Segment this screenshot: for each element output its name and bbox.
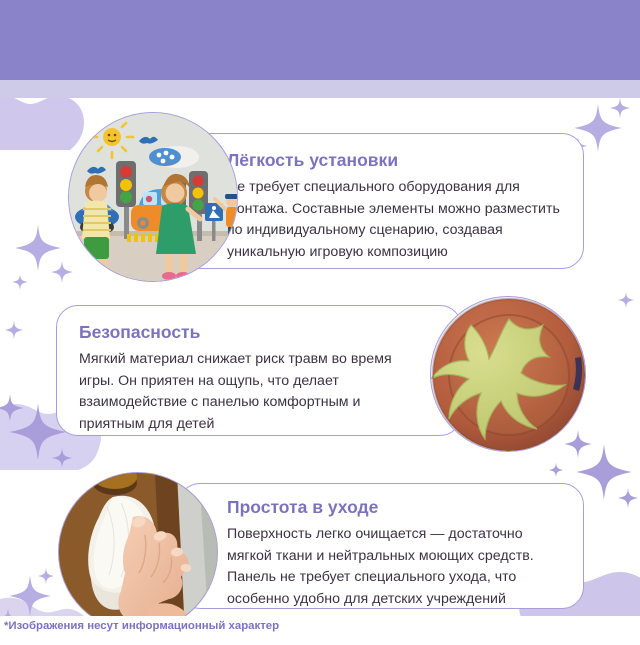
photo-hand-wiping-surface bbox=[58, 472, 218, 632]
card-safety-body: Мягкий материал снижает риск травм во вр… bbox=[79, 349, 415, 435]
card-easy-install-bubble: Лёгкость установки Не требует специально… bbox=[178, 133, 584, 269]
cloud-top-left bbox=[0, 96, 84, 150]
photo-hand-wiping-svg bbox=[59, 473, 218, 632]
header-accent-strip bbox=[0, 80, 640, 98]
header-bar bbox=[0, 0, 640, 80]
photo-foam-palm-svg bbox=[431, 297, 586, 452]
photo-soft-foam-palm-element bbox=[430, 296, 586, 452]
sparkle-cluster-left-top bbox=[12, 225, 73, 290]
sparkle-small-left-a bbox=[5, 321, 23, 339]
footer-bar: *Изображения несут информационный характ… bbox=[0, 616, 640, 640]
photo-children-traffic-svg bbox=[69, 113, 238, 282]
card-easy-care-heading: Простота в уходе bbox=[227, 495, 563, 519]
card-safety-heading: Безопасность bbox=[79, 320, 415, 344]
card-easy-install-body: Не требует специального оборудования для… bbox=[227, 177, 563, 263]
footer-disclaimer: *Изображения несут информационный характ… bbox=[4, 620, 279, 632]
card-easy-install-heading: Лёгкость установки bbox=[227, 148, 563, 172]
card-easy-care-body: Поверхность легко очищается — достаточно… bbox=[227, 524, 563, 610]
card-safety-bubble: Безопасность Мягкий материал снижает рис… bbox=[56, 305, 462, 436]
photo-children-traffic-panel bbox=[68, 112, 238, 282]
sparkle-small-right-a bbox=[618, 292, 635, 309]
card-easy-care-bubble: Простота в уходе Поверхность легко очища… bbox=[178, 483, 584, 609]
